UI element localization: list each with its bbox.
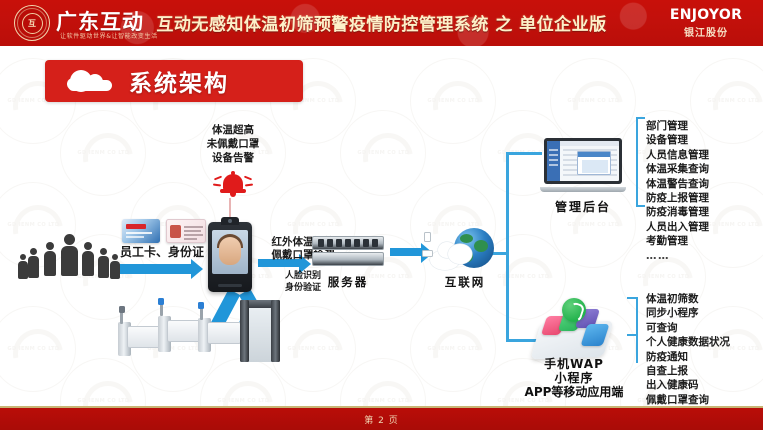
watermark-text: GD IENM CO LTD [287,346,339,352]
list-item: 人员信息管理 [646,148,709,162]
cards-label: 员工卡、身份证 [112,246,212,260]
page-title: 互动无感知体温初筛预警疫情防控管理系统 之 单位企业版 [0,10,763,35]
bracket-backend-list-vertical [636,117,638,207]
watermark-text: GD IENM CO LTD [427,346,479,352]
mobile-feature-list: 体温初筛数 同步小程序 可查询 个人健康数据状况 防疫通知 自查上报 出入健康码… [646,292,730,407]
page-number: 第 2 页 [364,413,398,426]
watermark-text: GD IENM CO LTD [357,150,409,156]
list-item: 部门管理 [646,119,709,133]
bracket-mobile-list-top [627,297,638,299]
smartphone-apps-icon [528,300,620,362]
section-title-banner: 系统架构 [45,60,303,102]
mobile-label-line-3: APP等移动应用端 [500,383,648,400]
list-item: 自查上报 [646,364,730,378]
bracket-to-backend-horizontal [506,152,542,155]
watermark-text: GD IENM CO LTD [427,98,479,104]
arrow-people-to-terminal [114,264,192,274]
alarm-bell-icon [218,170,248,198]
people-group-icon [24,232,120,278]
alarm-label-line-3: 设备告警 [183,152,283,166]
face-recognition-terminal-icon [208,222,252,292]
section-title: 系统架构 [129,64,229,98]
list-item: 人员出入管理 [646,220,709,234]
partner-logo: ENJOYOR 银江股份 [663,7,749,39]
alarm-label-line-1: 体温超高 [183,124,283,138]
list-item: 考勤管理 [646,234,709,248]
slide-footer: 第 2 页 [0,406,763,430]
list-item: 防疫通知 [646,350,730,364]
watermark-text: GD IENM CO LTD [77,150,129,156]
list-item: 防疫上报管理 [646,191,709,205]
watermark-text: GD IENM CO LTD [7,222,59,228]
slide-canvas: GD IENM CO LTD GD IENM CO LTD GD IENM CO… [0,0,763,430]
bracket-backend-list-top [636,117,645,119]
watermark-text: GD IENM CO LTD [77,398,129,404]
id-card-icon [166,219,206,243]
cloud-icon [67,70,113,92]
bracket-backend-list-bottom [636,205,645,207]
partner-logo-en: ENJOYOR [663,7,749,23]
bracket-mobile-list-vertical [636,297,638,363]
list-item: 出入健康码 [646,378,730,392]
watermark-text: GD IENM CO LTD [287,222,339,228]
list-item: 体温采集查询 [646,162,709,176]
laptop-icon [540,138,626,194]
list-item: 体温初筛数 [646,292,730,306]
internet-label: 互联网 [428,274,502,290]
watermark-text: GD IENM CO LTD [567,98,619,104]
server-rack-icon [312,236,384,268]
watermark-text: GD IENM CO LTD [357,398,409,404]
list-item: 可查询 [646,321,730,335]
server-label: 服务器 [310,274,386,290]
watermark-text: GD IENM CO LTD [567,222,619,228]
list-item: 设备管理 [646,133,709,147]
bracket-internet-split-vertical [506,152,509,342]
list-item-ellipsis: …… [646,249,709,263]
partner-logo-cn: 银江股份 [663,24,749,39]
security-door-frame-icon [238,300,282,362]
backend-label: 管理后台 [534,198,632,215]
alarm-label-line-2: 未佩戴口罩 [183,138,283,152]
watermark-text: GD IENM CO LTD [7,346,59,352]
wechat-miniprogram-icon [562,298,586,322]
list-item: 防疫消毒管理 [646,205,709,219]
arrow-server-to-internet [390,248,422,256]
slide-header: 互 广东互动 让软件驱动世界&让智能改变生活 互动无感知体温初筛预警疫情防控管理… [0,0,763,46]
list-item: 同步小程序 [646,306,730,320]
watermark-text: GD IENM CO LTD [497,274,549,280]
watermark-text: GD IENM CO LTD [217,398,269,404]
bracket-mobile-list-mid [627,334,638,336]
watermark-text: GD IENM CO LTD [707,98,759,104]
watermark-text: GD IENM CO LTD [427,222,479,228]
list-item: 个人健康数据状况 [646,335,730,349]
list-item: 体温警告查询 [646,177,709,191]
watermark-text: GD IENM CO LTD [707,222,759,228]
globe-internet-icon [430,228,496,280]
backend-feature-list: 部门管理 设备管理 人员信息管理 体温采集查询 体温警告查询 防疫上报管理 防疫… [646,119,709,263]
employee-card-icon [122,219,160,243]
watermark-text: GD IENM CO LTD [637,274,689,280]
